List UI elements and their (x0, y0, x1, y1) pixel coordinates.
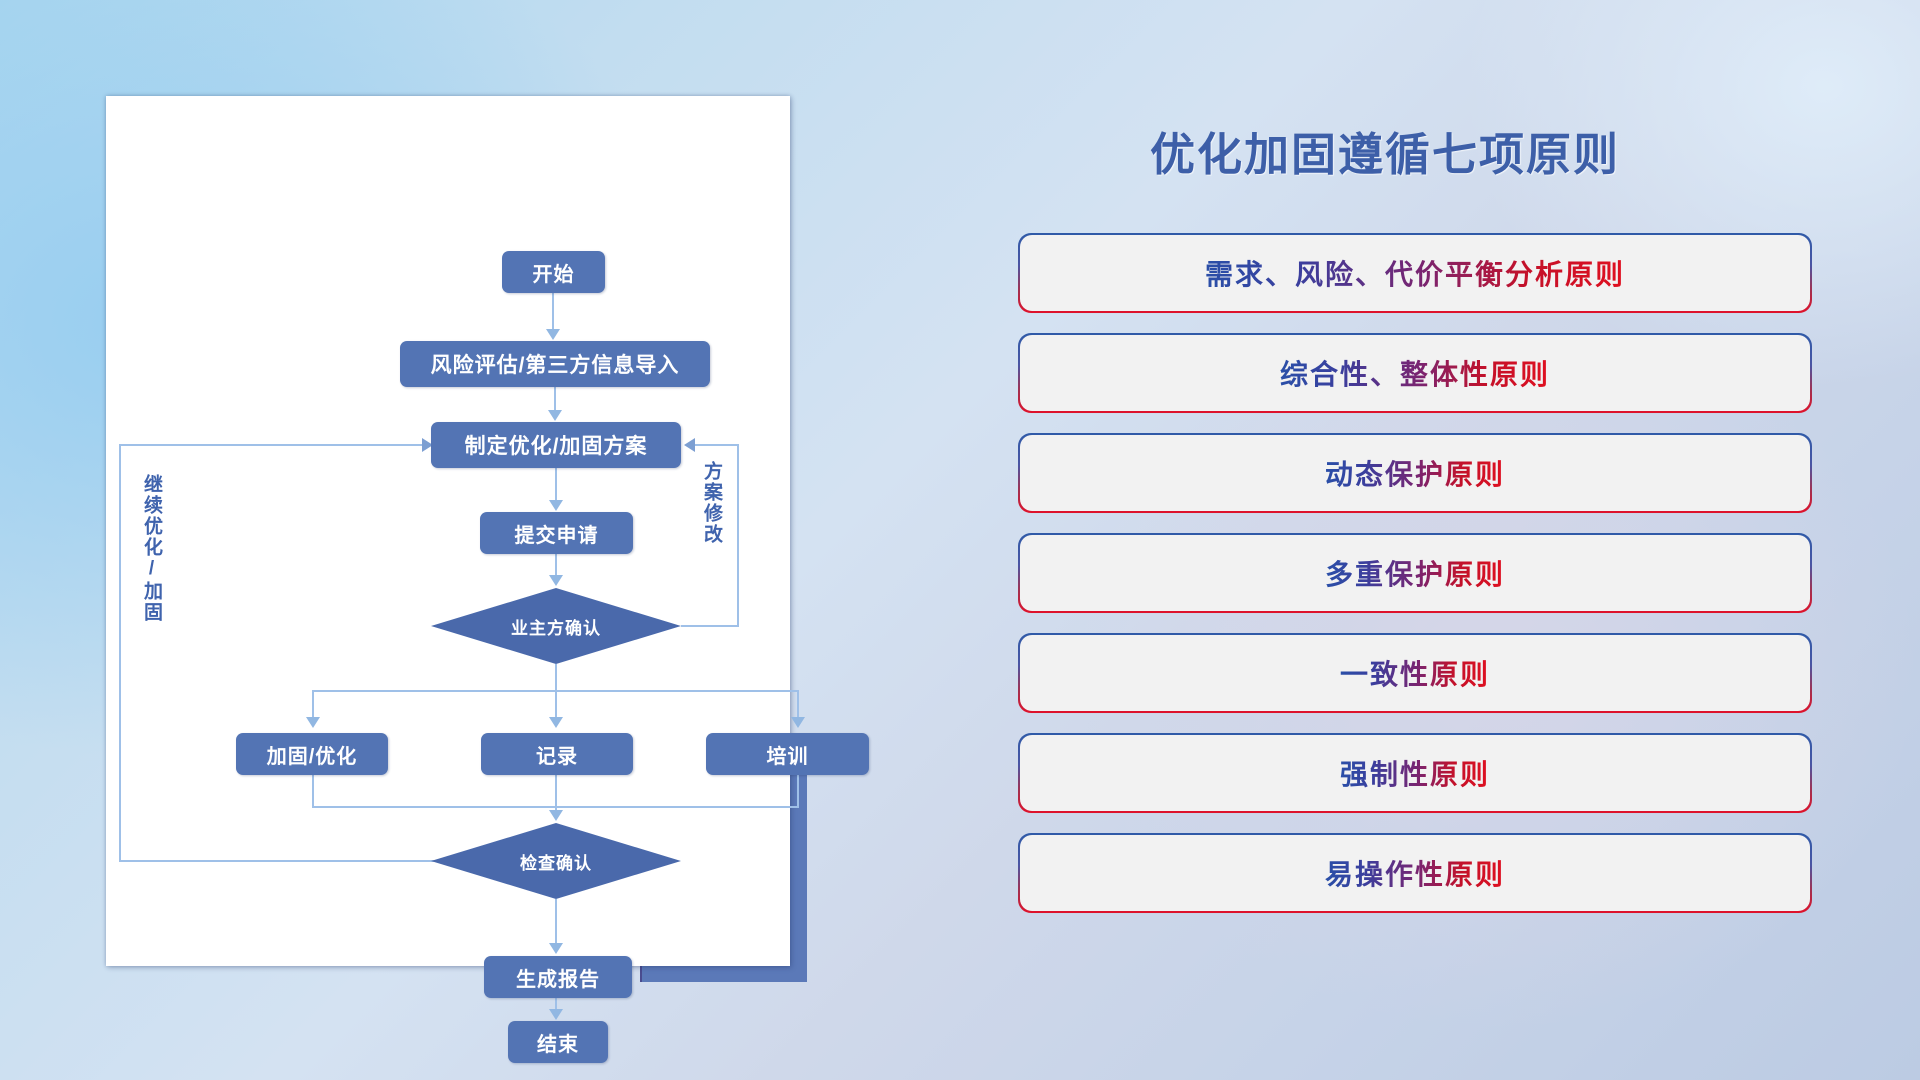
list-item[interactable]: 一致性原则 (1020, 635, 1810, 711)
connector-check-report (555, 899, 557, 944)
connector-branch-left (312, 690, 314, 720)
connector-left-top (119, 444, 393, 446)
flow-node-plan[interactable]: 制定优化/加固方案 (431, 422, 681, 468)
connector-right-to-plan (695, 444, 739, 446)
principle-label: 多重保护原则 (1325, 553, 1505, 593)
list-item[interactable]: 需求、风险、代价平衡分析原则 (1020, 235, 1810, 311)
flowchart-diagram: 方案修改 继续优化/加固 (106, 96, 790, 966)
list-item[interactable]: 动态保护原则 (1020, 435, 1810, 511)
edge-label-plan-revision: 方案修改 (702, 461, 721, 545)
slide-canvas: 方案修改 继续优化/加固 (0, 0, 1920, 1080)
flow-node-reinforce[interactable]: 加固/优化 (236, 733, 388, 775)
principle-label: 综合性、整体性原则 (1280, 353, 1550, 393)
connector-left-down (119, 444, 121, 862)
list-item[interactable]: 多重保护原则 (1020, 535, 1810, 611)
flow-node-generate-report[interactable]: 生成报告 (484, 956, 632, 998)
principle-label: 动态保护原则 (1325, 453, 1505, 493)
arrowhead-check (549, 810, 563, 821)
connector-branch-center (555, 690, 557, 720)
arrowhead-report (549, 943, 563, 954)
connector-submit-owner (555, 554, 557, 576)
flow-node-submit-application[interactable]: 提交申请 (480, 512, 633, 554)
principle-label: 强制性原则 (1340, 753, 1490, 793)
principle-label: 易操作性原则 (1325, 853, 1505, 893)
flow-node-record[interactable]: 记录 (481, 733, 633, 775)
connector-owner-down (555, 664, 557, 691)
connector-right-up (737, 445, 739, 627)
arrowhead-submit (549, 500, 563, 511)
connector-reinforce-down (312, 775, 314, 807)
arrowhead-plan (548, 410, 562, 421)
flow-decision-inspection-confirm[interactable]: 检查确认 (431, 823, 681, 899)
flowchart-card: 方案修改 继续优化/加固 (106, 96, 790, 966)
flow-decision-owner-confirm-label: 业主方确认 (511, 614, 601, 639)
arrowhead-train (791, 717, 805, 728)
arrowhead-risk (546, 329, 560, 340)
flow-node-start[interactable]: 开始 (502, 251, 605, 293)
page-title: 优化加固遵循七项原则 (1150, 118, 1620, 183)
connector-owner-right (681, 625, 739, 627)
flow-node-risk-assessment[interactable]: 风险评估/第三方信息导入 (400, 341, 710, 387)
connector-left-to-check (119, 860, 437, 862)
list-item[interactable]: 综合性、整体性原则 (1020, 335, 1810, 411)
connector-record-down (555, 775, 557, 813)
connector-plan-submit (555, 468, 557, 500)
connector-train-down (797, 775, 799, 807)
arrowhead-end (549, 1009, 563, 1020)
connector-start-risk (552, 293, 554, 333)
flow-decision-owner-confirm[interactable]: 业主方确认 (431, 588, 681, 664)
principles-panel: 优化加固遵循七项原则 需求、风险、代价平衡分析原则 综合性、整体性原则 动态保护… (1020, 100, 1840, 1000)
flow-node-training[interactable]: 培训 (706, 733, 869, 775)
flow-node-end[interactable]: 结束 (508, 1021, 608, 1063)
arrowhead-owner (549, 575, 563, 586)
flow-decision-inspection-confirm-label: 检查确认 (520, 849, 592, 874)
principle-label: 一致性原则 (1340, 653, 1490, 693)
list-item[interactable]: 强制性原则 (1020, 735, 1810, 811)
arrowhead-record (549, 717, 563, 728)
arrowhead-reinforce (306, 717, 320, 728)
connector-branch-right (797, 690, 799, 720)
principle-label: 需求、风险、代价平衡分析原则 (1205, 253, 1625, 293)
arrowhead-plan-from-right (684, 438, 695, 452)
principles-list: 需求、风险、代价平衡分析原则 综合性、整体性原则 动态保护原则 多重保护原则 一… (1020, 235, 1810, 935)
edge-label-continue-optimize: 继续优化/加固 (142, 474, 161, 623)
list-item[interactable]: 易操作性原则 (1020, 835, 1810, 911)
